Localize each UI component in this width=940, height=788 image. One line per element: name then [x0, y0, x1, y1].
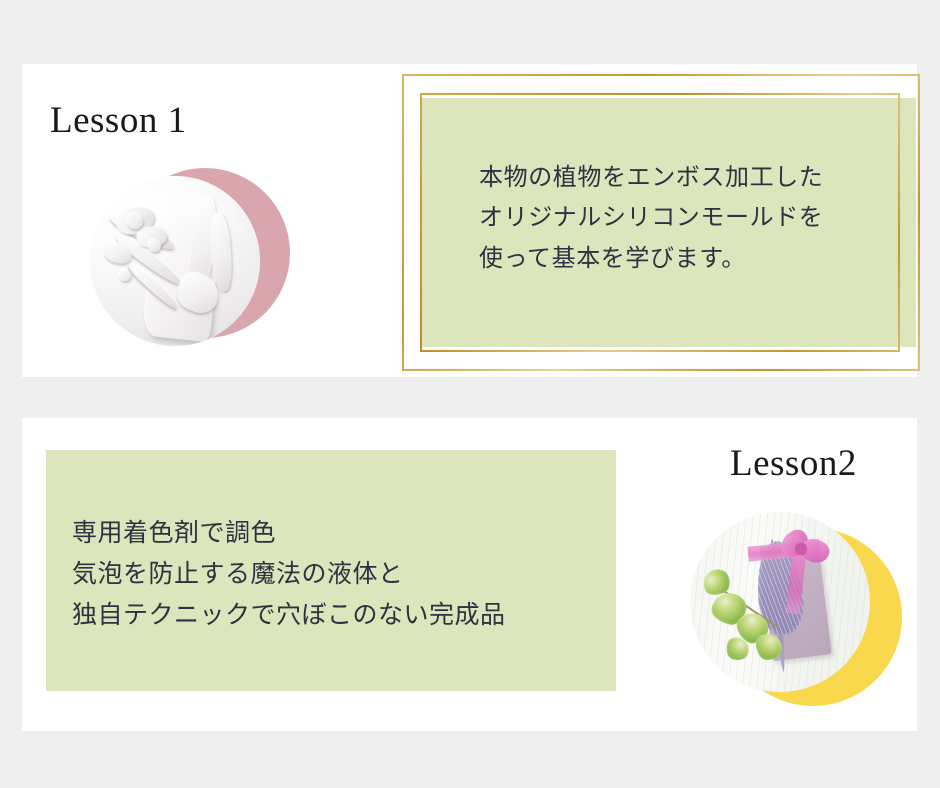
lesson-2-photo-feather-plaque [690, 512, 870, 692]
lesson-1-photo-group [82, 168, 292, 358]
lesson-1-description: 本物の植物をエンボス加工した オリジナルシリコンモールドを 使って基本を学びます… [479, 158, 899, 279]
lesson-card-2: 専用着色剤で調色 気泡を防止する魔法の液体と 独自テクニックで穴ぼこのない完成品… [22, 418, 917, 731]
lesson-2-title: Lesson2 [730, 442, 857, 485]
relief-bud-1 [127, 213, 142, 228]
ribbon-bow-knot [795, 543, 807, 556]
relief-bud-3 [119, 270, 131, 282]
lesson-1-title: Lesson 1 [50, 99, 187, 142]
slide-page: Lesson 1 本物の [0, 0, 940, 788]
lesson-card-1: Lesson 1 本物の [22, 64, 917, 377]
lesson-2-description: 専用着色剤で調色 気泡を防止する魔法の液体と 独自テクニックで穴ぼこのない完成品 [72, 513, 602, 636]
lesson-1-photo-plaster-relief [90, 176, 260, 346]
lesson-2-photo-group [662, 506, 907, 706]
